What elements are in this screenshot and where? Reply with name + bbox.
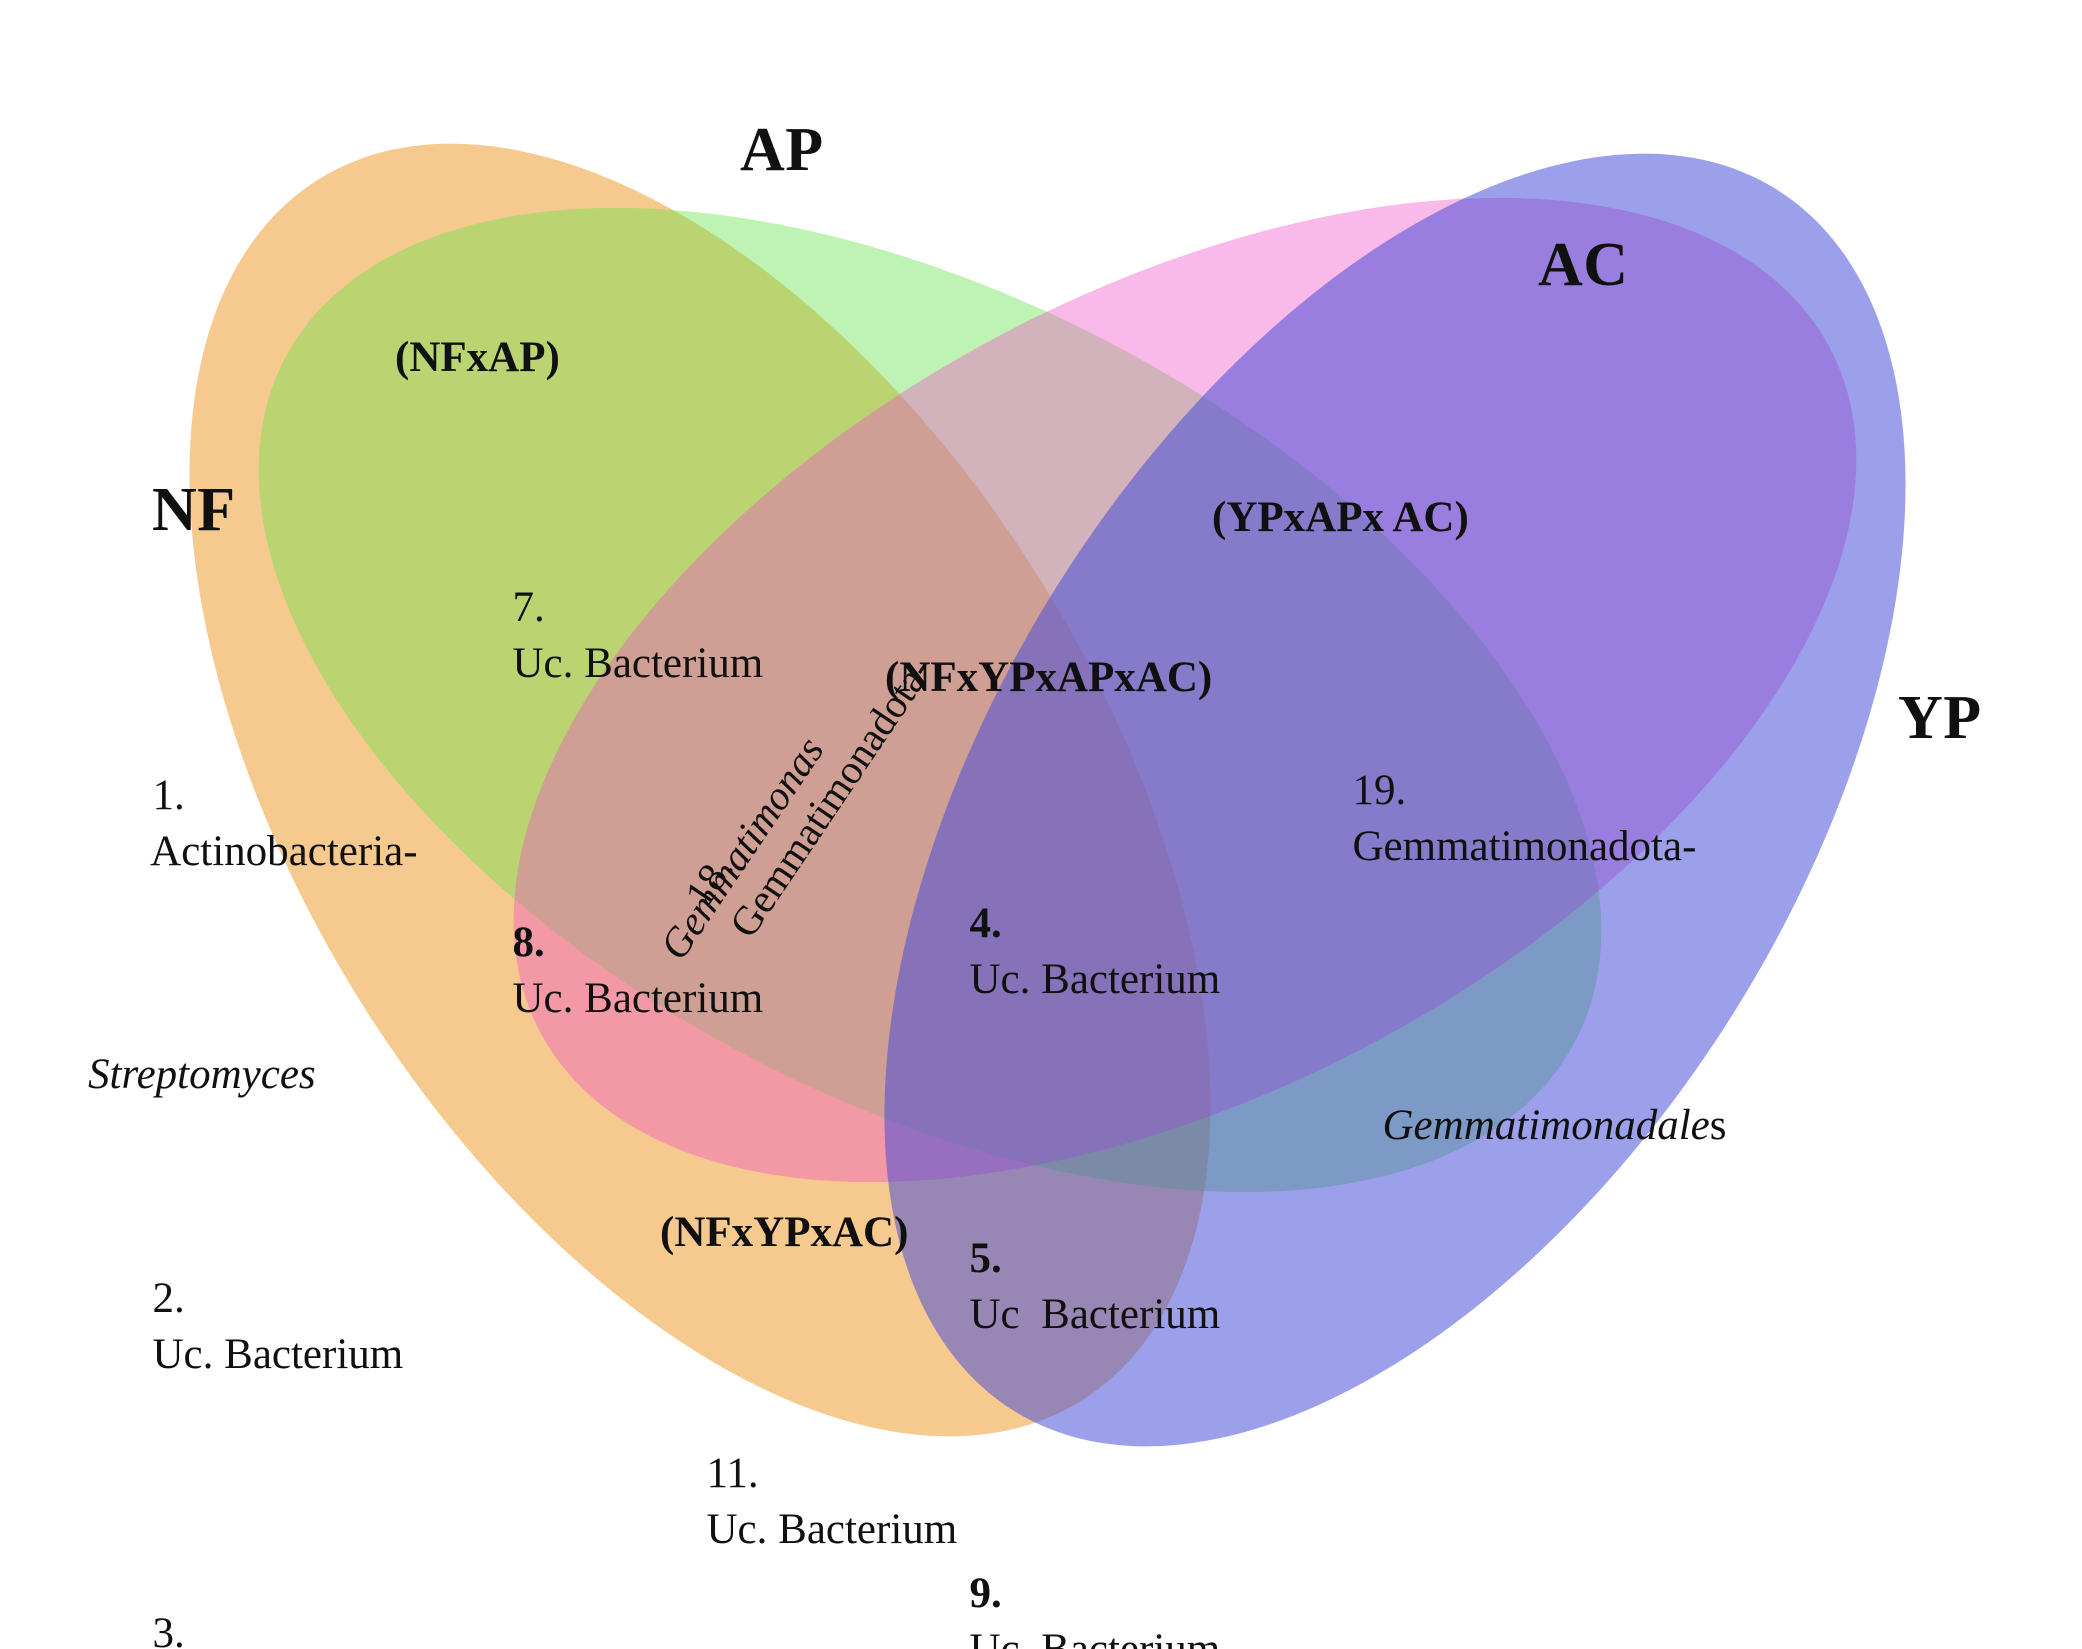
- item-number: 4.: [970, 900, 1002, 947]
- region-label-nf-yp-ap-ac: (NFxYPxAPxAC): [885, 650, 1212, 706]
- region-label-yp-ap-ac: (YPxAPx AC): [1212, 490, 1469, 546]
- item-text: Uc. Bacterium: [707, 1506, 958, 1553]
- set-label-ac: AC: [1538, 225, 1629, 306]
- list-item: 19. Gemmatimonadota-: [1288, 707, 1726, 931]
- item-number: 1.: [153, 772, 185, 819]
- item-number: 8.: [513, 919, 545, 966]
- item-number: 19.: [1353, 767, 1407, 814]
- list-item: 4. Uc. Bacterium: [905, 840, 1309, 1064]
- item-species: Gemmatimonadale: [1383, 1102, 1710, 1149]
- region-yp-ap-ac-items: 19. Gemmatimonadota- Gemmatimonadales: [1288, 595, 1726, 1322]
- list-item: 3. Uc. Bacterium: [88, 1550, 518, 1649]
- item-text: Uc. Bacterium: [153, 1331, 404, 1378]
- set-label-yp: YP: [1898, 678, 1982, 759]
- region-label-nf-ap: (NFxAP): [395, 330, 560, 386]
- item-text: Actinobacteria-: [150, 828, 417, 875]
- item-species-line: Gemmatimonadales: [1288, 1042, 1726, 1210]
- item-number: 7.: [513, 584, 545, 631]
- venn-diagram-canvas: NF AP AC YP 1. Actinobacteria- Streptomy…: [0, 0, 2082, 1649]
- item-number: 3.: [153, 1610, 185, 1649]
- list-item: 11. Uc. Bacterium: [642, 1390, 1069, 1614]
- item-number: 11.: [707, 1450, 759, 1497]
- region-nf-yp-ac-items: 11. Uc. Bacterium 12. Alphaproteobacteri…: [642, 1278, 1069, 1649]
- set-label-ap: AP: [740, 110, 824, 191]
- item-species-suffix: s: [1710, 1102, 1727, 1149]
- item-text: Uc. Bacterium: [513, 975, 764, 1022]
- item-text: Gemmatimonadota-: [1353, 823, 1697, 870]
- item-text: Uc. Bacterium: [513, 640, 764, 687]
- item-number: 2.: [153, 1275, 185, 1322]
- item-number: 5.: [970, 1235, 1002, 1282]
- region-label-nf-yp-ac: (NFxYPxAC): [660, 1205, 908, 1261]
- set-label-nf: NF: [152, 470, 236, 551]
- list-item: 2. Uc. Bacterium: [88, 1215, 518, 1439]
- item-text: Uc. Bacterium: [970, 956, 1221, 1003]
- list-item: 7. Uc. Bacterium: [448, 524, 763, 748]
